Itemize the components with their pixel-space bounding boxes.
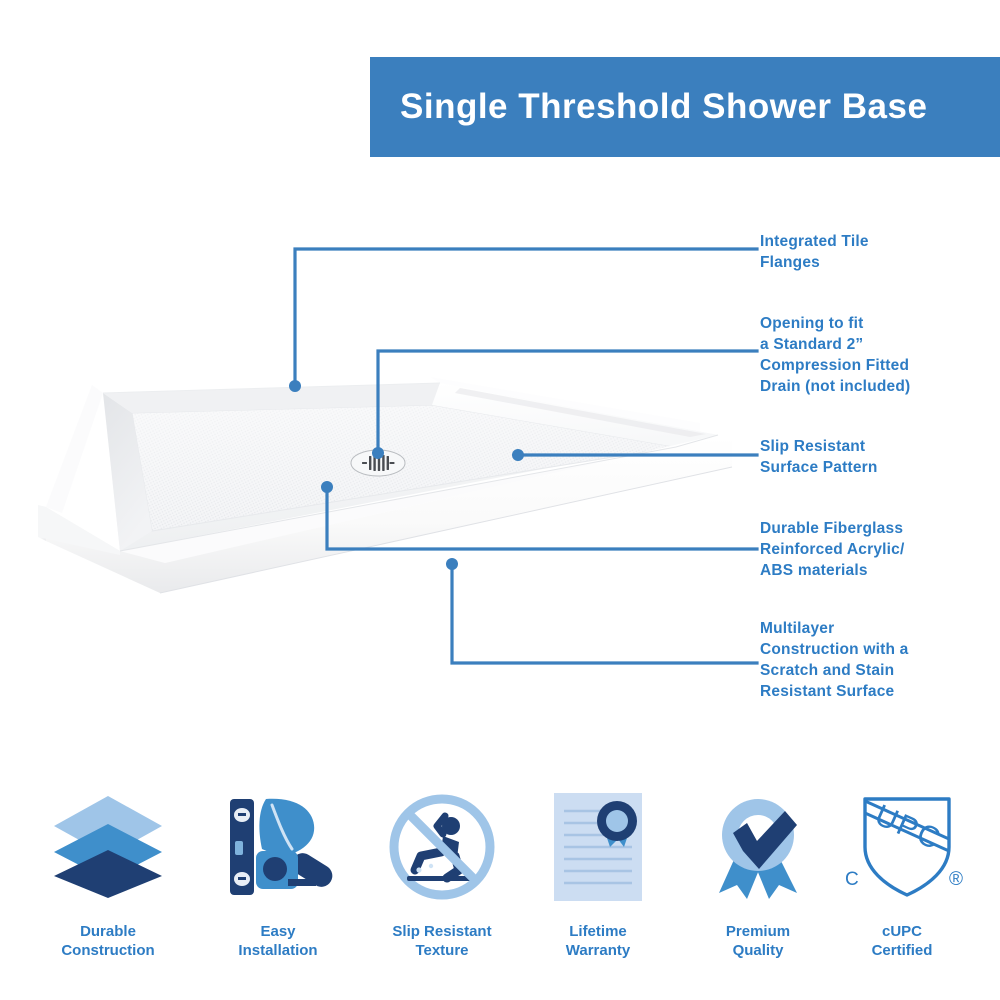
feature-lifetime-warranty: Lifetime Warranty [518,786,678,960]
annotation-line: Reinforced Acrylic/ [760,539,905,560]
callout-dot [289,380,301,392]
annotation-multilayer-construction: Multilayer Construction with a Scratch a… [760,618,908,702]
infographic-canvas: Single Threshold Shower Base [0,0,1000,1000]
feature-label: cUPC Certified [822,922,982,960]
upc-right-mark: ® [949,869,963,890]
annotation-integrated-tile-flanges: Integrated Tile Flanges [760,231,869,273]
upc-shield-icon: UPC C ® [822,786,982,908]
annotation-line: Opening to fit [760,313,910,334]
leader-durable-materials [327,487,757,549]
feature-label: Slip Resistant Texture [362,922,522,960]
annotation-line: Construction with a [760,639,908,660]
annotation-line: Integrated Tile [760,231,869,252]
annotation-slip-resistant-surface: Slip Resistant Surface Pattern [760,436,878,478]
annotation-durable-materials: Durable Fiberglass Reinforced Acrylic/ A… [760,518,905,581]
feature-label: Lifetime Warranty [518,922,678,960]
annotation-line: Durable Fiberglass [760,518,905,539]
no-slip-icon [362,786,522,908]
feature-durable-construction: Durable Construction [28,786,188,960]
annotation-line: Drain (not included) [760,376,910,397]
annotation-line: a Standard 2” [760,334,910,355]
leader-integrated-tile-flanges [295,249,757,386]
annotation-line: ABS materials [760,560,905,581]
annotation-line: Scratch and Stain [760,660,908,681]
leader-drain-opening [378,351,757,453]
annotation-drain-opening: Opening to fit a Standard 2” Compression… [760,313,910,397]
callout-dot [512,449,524,461]
feature-premium-quality: Premium Quality [678,786,838,960]
feature-easy-installation: Easy Installation [198,786,358,960]
annotation-line: Multilayer [760,618,908,639]
callout-dot [372,447,384,459]
annotation-line: Resistant Surface [760,681,908,702]
upc-left-mark: C [845,869,859,890]
certificate-icon [518,786,678,908]
leader-dots [289,380,524,570]
tools-icon [198,786,358,908]
leader-multilayer [452,564,757,663]
upc-shield-text: UPC [870,799,947,857]
callout-dot [321,481,333,493]
callout-dot [446,558,458,570]
feature-cupc-certified: UPC C ® cUPC Certified [822,786,982,960]
feature-label: Durable Construction [28,922,188,960]
feature-label: Easy Installation [198,922,358,960]
feature-slip-resistant: Slip Resistant Texture [362,786,522,960]
feature-label: Premium Quality [678,922,838,960]
annotation-line: Slip Resistant [760,436,878,457]
rosette-check-icon [678,786,838,908]
layers-icon [28,786,188,908]
annotation-line: Compression Fitted [760,355,910,376]
annotation-line: Flanges [760,252,869,273]
annotation-line: Surface Pattern [760,457,878,478]
leader-paths [295,249,757,663]
